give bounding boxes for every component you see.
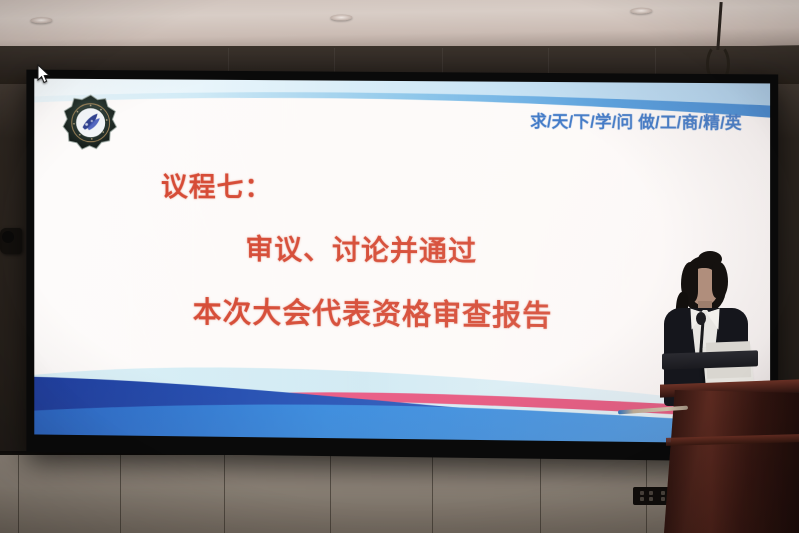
wall-panel-seam	[330, 455, 331, 533]
presenter-hair-right	[712, 262, 728, 298]
recessed-ceiling-light	[30, 17, 52, 23]
wall-mounted-speaker	[0, 228, 22, 254]
wall-panel-seam	[540, 455, 541, 533]
headline-line-1: 议程七：	[161, 165, 770, 209]
wall-panel-seam	[18, 455, 19, 533]
wall-panel-seam	[120, 455, 121, 533]
slide-motto: 求/天/下/学/问 做/工/商/精/英	[530, 108, 742, 134]
recessed-ceiling-light	[330, 14, 352, 20]
screenshot-scene: 求/天/下/学/问 做/工/商/精/英 议程七： 审议、讨论并通过 本次大会代表…	[0, 0, 799, 533]
presenter-and-podium	[640, 240, 799, 533]
recessed-ceiling-light	[630, 8, 652, 14]
university-emblem-icon	[62, 94, 119, 152]
wall-panel-seam	[432, 455, 433, 533]
microphone-head	[696, 312, 706, 325]
wall-panel-seam	[224, 455, 225, 533]
mouse-pointer-icon	[37, 64, 51, 84]
podium-body	[664, 390, 799, 533]
podium-ledge	[662, 350, 758, 369]
